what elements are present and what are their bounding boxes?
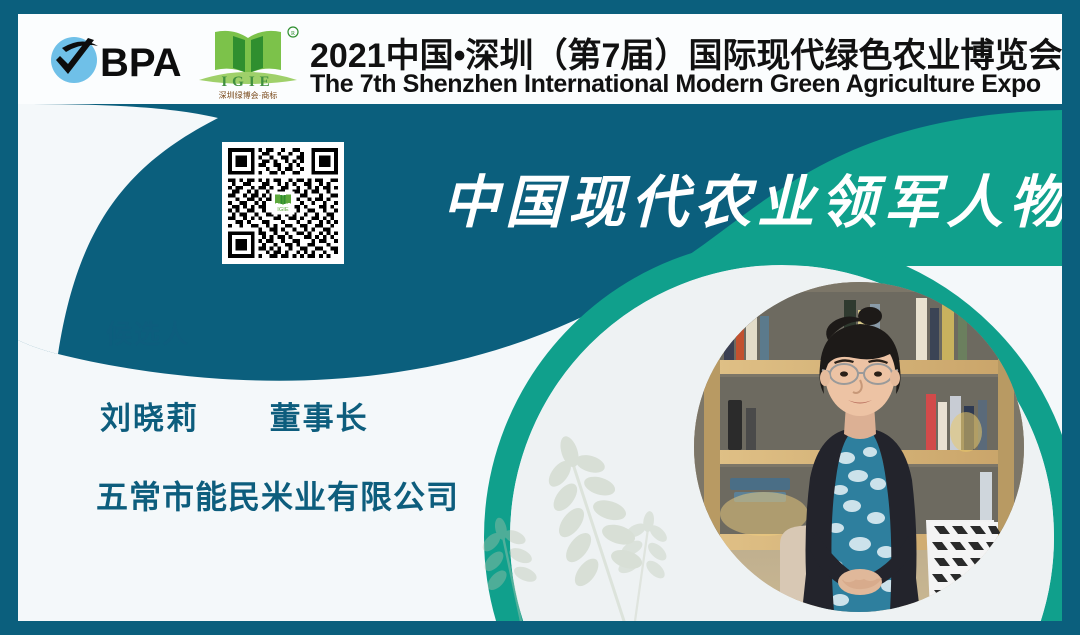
portrait-illustration [694, 282, 1024, 612]
igie-logo-subtitle: 深圳绿博会·商标 [193, 90, 303, 101]
poster-root: BPA R IGIE 深圳绿博会·商标 2021中国•深圳（第7届）国际现代绿色… [0, 0, 1080, 635]
expo-title-english: The 7th Shenzhen International Modern Gr… [310, 70, 1041, 99]
candidate-label: 候选人 [106, 314, 558, 351]
svg-text:R: R [291, 31, 295, 37]
svg-text:BPA: BPA [100, 41, 181, 85]
candidate-name: 刘晓莉 [100, 393, 199, 438]
qr-code-image: IGIE [228, 148, 338, 258]
banner-heading: 中国现代农业领军人物 [442, 152, 1062, 244]
candidate-portrait [694, 282, 1024, 612]
candidate-organization: 五常市能民米业有限公司 [96, 472, 558, 518]
bpa-logo: BPA [48, 34, 198, 86]
candidate-info: 候选人 刘晓莉 董事长 五常市能民米业有限公司 [88, 314, 558, 518]
candidate-role: 董事长 [270, 393, 369, 438]
igie-logo-word: IGIE [193, 74, 303, 91]
qr-code[interactable]: IGIE [222, 142, 344, 264]
svg-text:IGIE: IGIE [277, 207, 289, 213]
poster-canvas: BPA R IGIE 深圳绿博会·商标 2021中国•深圳（第7届）国际现代绿色… [18, 14, 1062, 621]
candidate-name-role-row: 刘晓莉 董事长 [100, 393, 558, 438]
poster-header: BPA R IGIE 深圳绿博会·商标 2021中国•深圳（第7届）国际现代绿色… [18, 14, 1062, 104]
